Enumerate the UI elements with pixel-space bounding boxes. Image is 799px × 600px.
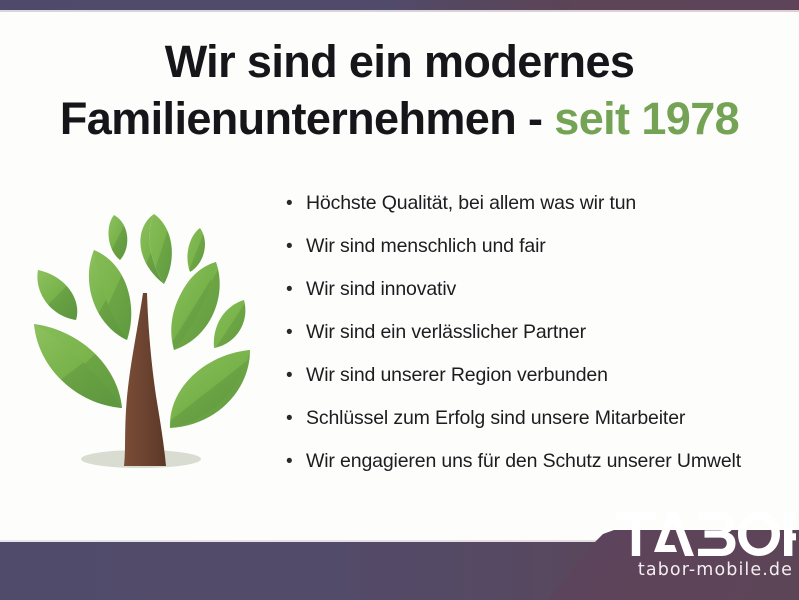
tree-leaf — [34, 324, 122, 408]
bullet-marker-icon: • — [286, 319, 306, 346]
slide-canvas: Wir sind ein modernes Familienunternehme… — [0, 0, 799, 600]
list-item: • Wir sind menschlich und fair — [286, 233, 796, 276]
logo-url-text: tabor-mobile.de — [548, 560, 793, 580]
list-item-label: Wir sind unserer Region verbunden — [306, 362, 608, 389]
page-title-line-1: Wir sind ein modernes — [0, 34, 799, 91]
list-item: • Wir engagieren uns für den Schutz unse… — [286, 448, 796, 491]
list-item-label: Wir sind menschlich und fair — [306, 233, 546, 260]
tabor-logo-svg — [616, 512, 796, 556]
bullet-marker-icon: • — [286, 276, 306, 303]
tree-leaf — [149, 214, 172, 284]
list-item: • Wir sind ein verlässlicher Partner — [286, 319, 796, 362]
list-item-label: Höchste Qualität, bei allem was wir tun — [306, 190, 636, 217]
tree-illustration — [14, 192, 264, 488]
top-accent-bar — [0, 0, 799, 10]
top-accent-hairline — [0, 10, 799, 12]
bullet-marker-icon: • — [286, 448, 306, 475]
list-item-label: Wir sind innovativ — [306, 276, 456, 303]
bullet-marker-icon: • — [286, 405, 306, 432]
tree-leaf — [187, 228, 205, 272]
list-item-label: Wir engagieren uns für den Schutz unsere… — [306, 448, 741, 475]
page-title-line-2-plain: Familienunternehmen - — [60, 93, 554, 144]
tree-leaf — [108, 215, 127, 260]
tree-illustration-svg — [14, 192, 264, 488]
logo-wordmark — [616, 512, 796, 556]
list-item: • Wir sind unserer Region verbunden — [286, 362, 796, 405]
list-item: • Schlüssel zum Erfolg sind unsere Mitar… — [286, 405, 796, 448]
list-item-label: Schlüssel zum Erfolg sind unsere Mitarbe… — [306, 405, 685, 432]
bullet-list: • Höchste Qualität, bei allem was wir tu… — [286, 190, 796, 491]
bullet-marker-icon: • — [286, 362, 306, 389]
tree-leaf — [37, 270, 77, 320]
tree-leaf — [214, 300, 246, 348]
bullet-marker-icon: • — [286, 190, 306, 217]
page-title-accent: seit 1978 — [554, 93, 739, 144]
list-item-label: Wir sind ein verlässlicher Partner — [306, 319, 586, 346]
list-item: • Höchste Qualität, bei allem was wir tu… — [286, 190, 796, 233]
page-title-line-2: Familienunternehmen - seit 1978 — [0, 91, 799, 148]
bullet-marker-icon: • — [286, 233, 306, 260]
page-title: Wir sind ein modernes Familienunternehme… — [0, 34, 799, 147]
list-item: • Wir sind innovativ — [286, 276, 796, 319]
